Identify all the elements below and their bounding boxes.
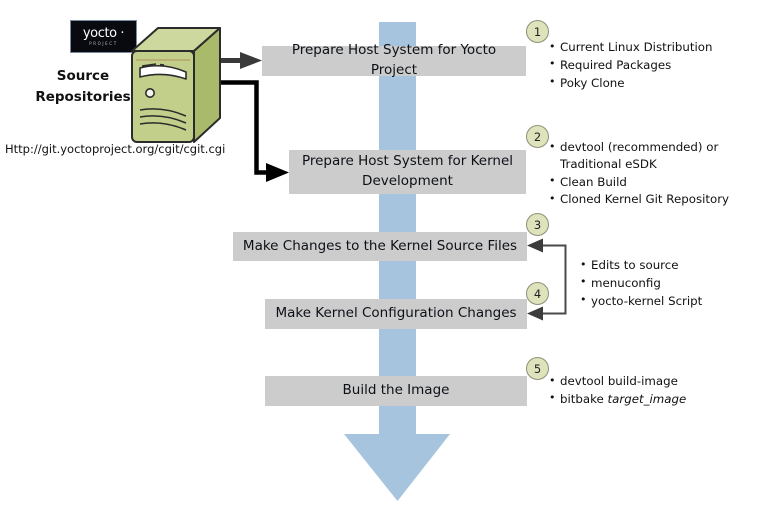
process-box-prepare-host-kernel[interactable]: Prepare Host System for Kernel Developme…: [289, 150, 526, 194]
notes-step-2: devtool (recommended) or Traditional eSD…: [549, 139, 754, 209]
note-text-emphasis: target_image: [608, 392, 687, 406]
note-item: Required Packages: [549, 57, 761, 74]
step-badge-2: 2: [526, 125, 549, 148]
yocto-project-logo: yocto · PROJECT: [70, 20, 137, 53]
server-icon: [130, 26, 222, 144]
notes-step-5: devtool build-image bitbake target_image: [549, 373, 754, 409]
process-box-prepare-host-yocto[interactable]: Prepare Host System for Yocto Project: [262, 46, 526, 76]
step-badge-4: 4: [526, 282, 549, 305]
notes-step-1: Current Linux Distribution Required Pack…: [549, 39, 761, 92]
note-text-prefix: bitbake: [560, 392, 608, 406]
notes-steps-3-and-4: Edits to source menuconfig yocto-kernel …: [580, 257, 760, 310]
step-badge-3: 3: [526, 213, 549, 236]
source-label-line2: Repositories: [28, 87, 138, 108]
process-box-make-kernel-config-changes[interactable]: Make Kernel Configuration Changes: [265, 299, 527, 329]
process-box-build-the-image[interactable]: Build the Image: [265, 376, 527, 406]
note-item: yocto-kernel Script: [580, 293, 760, 310]
note-item: bitbake target_image: [549, 391, 754, 408]
note-item: devtool build-image: [549, 373, 754, 390]
process-box-make-kernel-source-changes[interactable]: Make Changes to the Kernel Source Files: [233, 232, 527, 261]
logo-subtext: PROJECT: [89, 42, 117, 46]
note-item: Edits to source: [580, 257, 760, 274]
source-repositories-label: Source Repositories: [28, 66, 138, 108]
step-badge-5: 5: [526, 357, 549, 380]
note-item: devtool (recommended) or Traditional eSD…: [549, 139, 754, 173]
note-item: menuconfig: [580, 275, 760, 292]
repository-url-text: Http://git.yoctoproject.org/cgit/cgit.cg…: [5, 142, 225, 156]
diagram-canvas: yocto · PROJECT Source Repositories Http…: [0, 0, 769, 517]
note-item: Current Linux Distribution: [549, 39, 761, 56]
logo-wordmark: yocto ·: [83, 27, 124, 40]
note-item: Clean Build: [549, 174, 754, 191]
note-item: Cloned Kernel Git Repository: [549, 191, 754, 208]
step-badge-1: 1: [526, 20, 549, 43]
note-item: Poky Clone: [549, 75, 761, 92]
source-label-line1: Source: [28, 66, 138, 87]
